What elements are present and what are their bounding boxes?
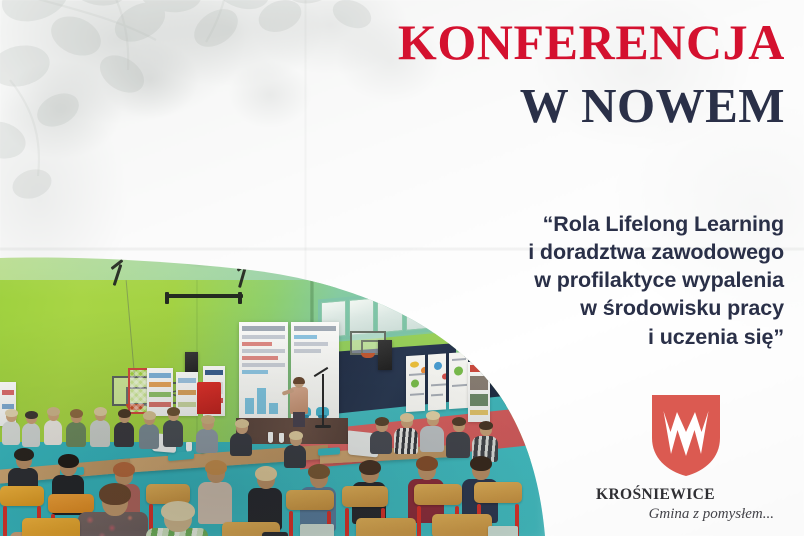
page-title: KONFERENCJA W NOWEM [398, 17, 785, 130]
audience-member [196, 416, 218, 452]
title-line-w-nowem: W NOWEM [398, 81, 785, 130]
audience-member [2, 410, 20, 444]
cup [268, 432, 273, 443]
flipchart-sheet [449, 352, 468, 409]
quote-line-1: “Rola Lifelong Learning [354, 210, 784, 238]
conference-poster: KONFERENCJA W NOWEM “Rola Lifelong Learn… [0, 0, 804, 536]
audience-member-foreground [146, 504, 208, 536]
title-line-konferencja: KONFERENCJA [398, 17, 785, 67]
quote-line-2: i doradztwa zawodowego [354, 238, 784, 266]
audience-member [248, 468, 282, 526]
conference-theme-quote: “Rola Lifelong Learning i doradztwa zawo… [354, 210, 784, 351]
speaker-presenter [288, 378, 310, 426]
audience-member [139, 412, 159, 448]
handbag [262, 532, 288, 536]
wall-bar-end [238, 292, 242, 304]
krosniewice-logo: KROŚNIEWICE Gmina z pomysłem... [592, 392, 780, 522]
quote-line-4: w środowisku pracy [354, 294, 784, 322]
audience-member [394, 414, 418, 452]
presentation-panel [239, 322, 288, 420]
audience-member [472, 422, 498, 460]
red-equipment-box [197, 382, 221, 414]
logo-tagline: Gmina z pomysłem... [592, 506, 780, 523]
audience-member [446, 418, 470, 456]
microphone-stand-icon [322, 374, 324, 426]
audience-member [114, 410, 134, 446]
audience-member [284, 432, 306, 466]
krosniewice-coat-of-arms-shield-icon [649, 392, 723, 478]
quote-line-3: w profilaktyce wypalenia [354, 266, 784, 294]
audience-member [370, 418, 392, 452]
chair [432, 514, 492, 536]
tote-bag [488, 526, 518, 536]
quote-line-5: i uczenia się” [354, 323, 784, 351]
wall-bar [165, 294, 243, 298]
logo-municipality-name: KROŚNIEWICE [592, 486, 780, 503]
audience-member [44, 408, 62, 444]
chair [356, 518, 416, 536]
flipchart-sheet [428, 353, 447, 410]
flipchart-sheet [406, 355, 425, 412]
audience-member [22, 412, 40, 446]
chair [22, 518, 80, 536]
audience-member [420, 412, 444, 450]
audience-member [66, 410, 86, 446]
wall-bar-end [165, 292, 169, 304]
audience-member [163, 408, 183, 446]
tote-bag [300, 524, 334, 536]
audience-member-foreground [78, 486, 148, 536]
flipchart-boards [406, 352, 468, 412]
audience-member [230, 420, 252, 454]
audience-member [90, 408, 110, 446]
